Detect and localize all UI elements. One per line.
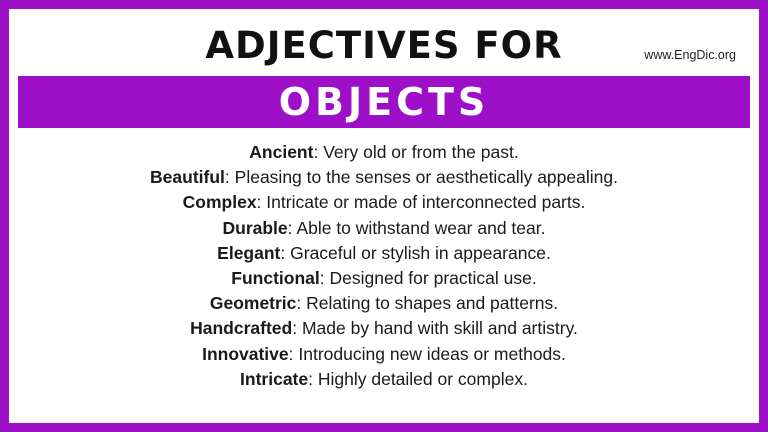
adjective-definition: Very old or from the past. [323, 142, 519, 162]
adjective-separator: : [308, 369, 313, 389]
adjective-word: Durable [223, 218, 288, 238]
adjective-separator: : [313, 142, 318, 162]
adjective-word: Geometric [210, 293, 297, 313]
adjective-separator: : [280, 243, 285, 263]
adjective-word: Intricate [240, 369, 308, 389]
list-item: Handcrafted: Made by hand with skill and… [28, 316, 740, 341]
poster-card: Adjectives for www.EngDic.org Objects An… [0, 0, 768, 432]
adjective-word: Elegant [217, 243, 280, 263]
list-item: Innovative: Introducing new ideas or met… [28, 342, 740, 367]
adjective-separator: : [288, 218, 293, 238]
adjective-definition: Made by hand with skill and artistry. [302, 318, 578, 338]
subtitle-text: Objects [279, 80, 490, 124]
adjective-separator: : [296, 293, 301, 313]
adjective-word: Ancient [249, 142, 313, 162]
adjective-word: Innovative [202, 344, 289, 364]
adjective-definition: Pleasing to the senses or aesthetically … [235, 167, 618, 187]
site-url: www.EngDic.org [644, 48, 736, 62]
list-item: Functional: Designed for practical use. [28, 266, 740, 291]
list-item: Complex: Intricate or made of interconne… [28, 190, 740, 215]
adjective-separator: : [225, 167, 230, 187]
adjective-word: Beautiful [150, 167, 225, 187]
list-item: Elegant: Graceful or stylish in appearan… [28, 241, 740, 266]
page-title: Adjectives for [18, 24, 750, 67]
adjective-list: Ancient: Very old or from the past. Beau… [18, 128, 750, 392]
adjective-definition: Able to withstand wear and tear. [296, 218, 545, 238]
adjective-definition: Introducing new ideas or methods. [298, 344, 566, 364]
adjective-definition: Relating to shapes and patterns. [306, 293, 558, 313]
list-item: Geometric: Relating to shapes and patter… [28, 291, 740, 316]
title-row: Adjectives for www.EngDic.org [18, 18, 750, 76]
adjective-definition: Highly detailed or complex. [318, 369, 528, 389]
adjective-word: Handcrafted [190, 318, 292, 338]
list-item: Durable: Able to withstand wear and tear… [28, 216, 740, 241]
adjective-separator: : [320, 268, 325, 288]
adjective-definition: Graceful or stylish in appearance. [290, 243, 551, 263]
list-item: Ancient: Very old or from the past. [28, 140, 740, 165]
adjective-separator: : [257, 192, 262, 212]
list-item: Beautiful: Pleasing to the senses or aes… [28, 165, 740, 190]
adjective-separator: : [292, 318, 297, 338]
subtitle-band: Objects [18, 76, 750, 128]
adjective-separator: : [289, 344, 294, 364]
adjective-word: Functional [231, 268, 319, 288]
adjective-word: Complex [183, 192, 257, 212]
adjective-definition: Intricate or made of interconnected part… [266, 192, 585, 212]
poster-inner: Adjectives for www.EngDic.org Objects An… [18, 18, 750, 414]
list-item: Intricate: Highly detailed or complex. [28, 367, 740, 392]
adjective-definition: Designed for practical use. [330, 268, 537, 288]
